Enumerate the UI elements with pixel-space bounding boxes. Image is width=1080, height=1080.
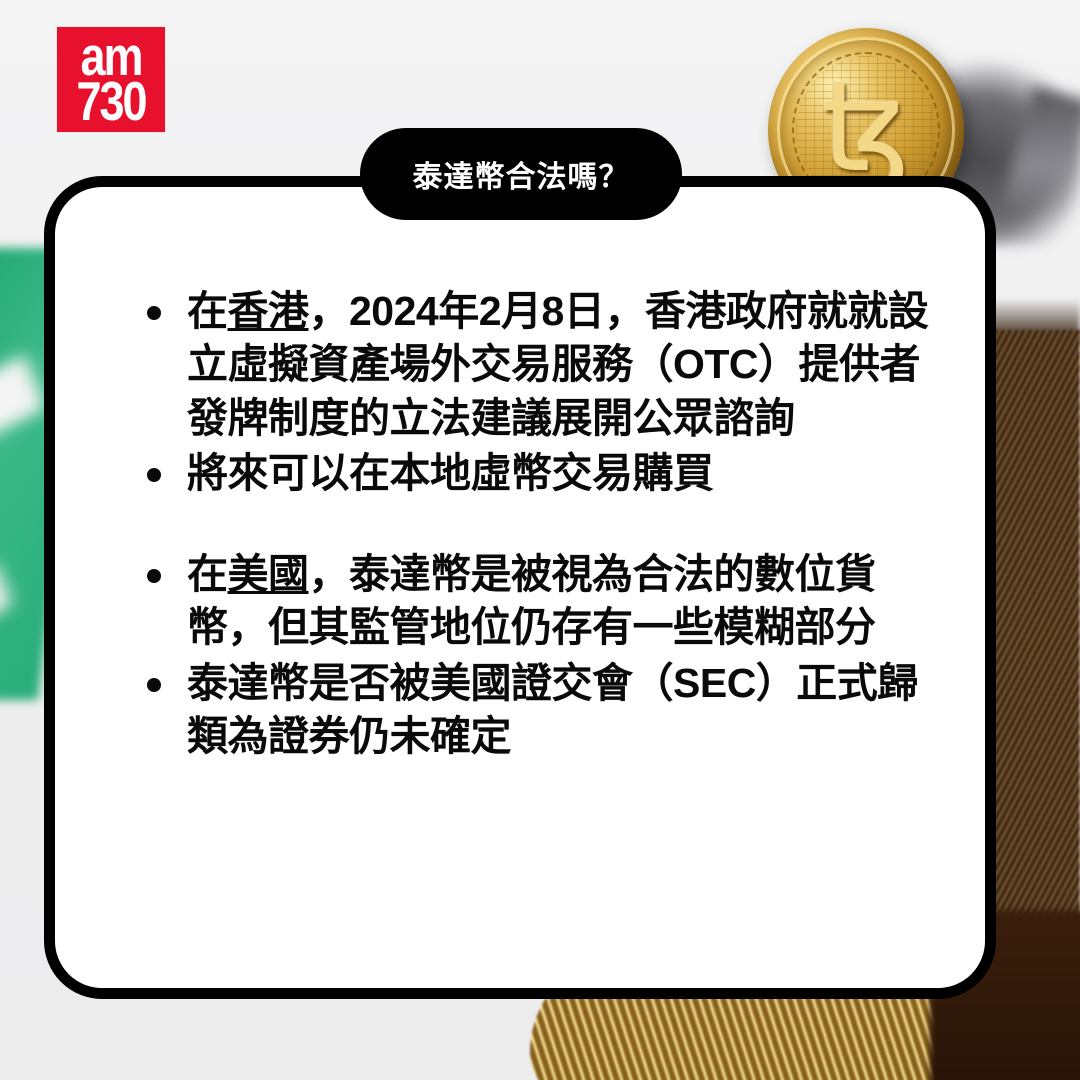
logo-line-2: 730 <box>76 78 145 125</box>
bullet-underlined-hongkong: 香港 <box>228 288 309 334</box>
bullet-underlined-usa: 美國 <box>228 551 309 597</box>
bullet-prefix-hongkong: 在 <box>187 288 228 334</box>
poster-canvas: am 730 ꜩ 在香港，2024年2月8日，香港政府就就設立虛擬資產場外交易服… <box>0 0 1080 1080</box>
content-card: 在香港，2024年2月8日，香港政府就就設立虛擬資產場外交易服務（OTC）提供者… <box>44 176 996 999</box>
bullet-prefix-usa: 在 <box>187 551 228 597</box>
bullet-rest-sec: 泰達幣是否被美國證交會（SEC）正式歸類為證券仍未確定 <box>187 660 918 759</box>
bullet-list: 在香港，2024年2月8日，香港政府就就設立虛擬資產場外交易服務（OTC）提供者… <box>137 285 937 763</box>
list-item-local-purchase: 將來可以在本地虛幣交易購買 <box>137 447 937 500</box>
list-spacer <box>137 502 937 548</box>
list-item-usa: 在美國，泰達幣是被視為合法的數位貨幣，但其監管地位仍存有一些模糊部分 <box>137 548 937 655</box>
bullet-rest-local-purchase: 將來可以在本地虛幣交易購買 <box>187 450 714 496</box>
title-pill: 泰達幣合法嗎？ <box>360 128 682 220</box>
bullet-list-container: 在香港，2024年2月8日，香港政府就就設立虛擬資產場外交易服務（OTC）提供者… <box>137 285 937 765</box>
list-item-sec: 泰達幣是否被美國證交會（SEC）正式歸類為證券仍未確定 <box>137 657 937 764</box>
am730-logo: am 730 <box>57 27 165 132</box>
list-item-hongkong: 在香港，2024年2月8日，香港政府就就設立虛擬資產場外交易服務（OTC）提供者… <box>137 285 937 445</box>
page-title: 泰達幣合法嗎？ <box>413 152 630 196</box>
